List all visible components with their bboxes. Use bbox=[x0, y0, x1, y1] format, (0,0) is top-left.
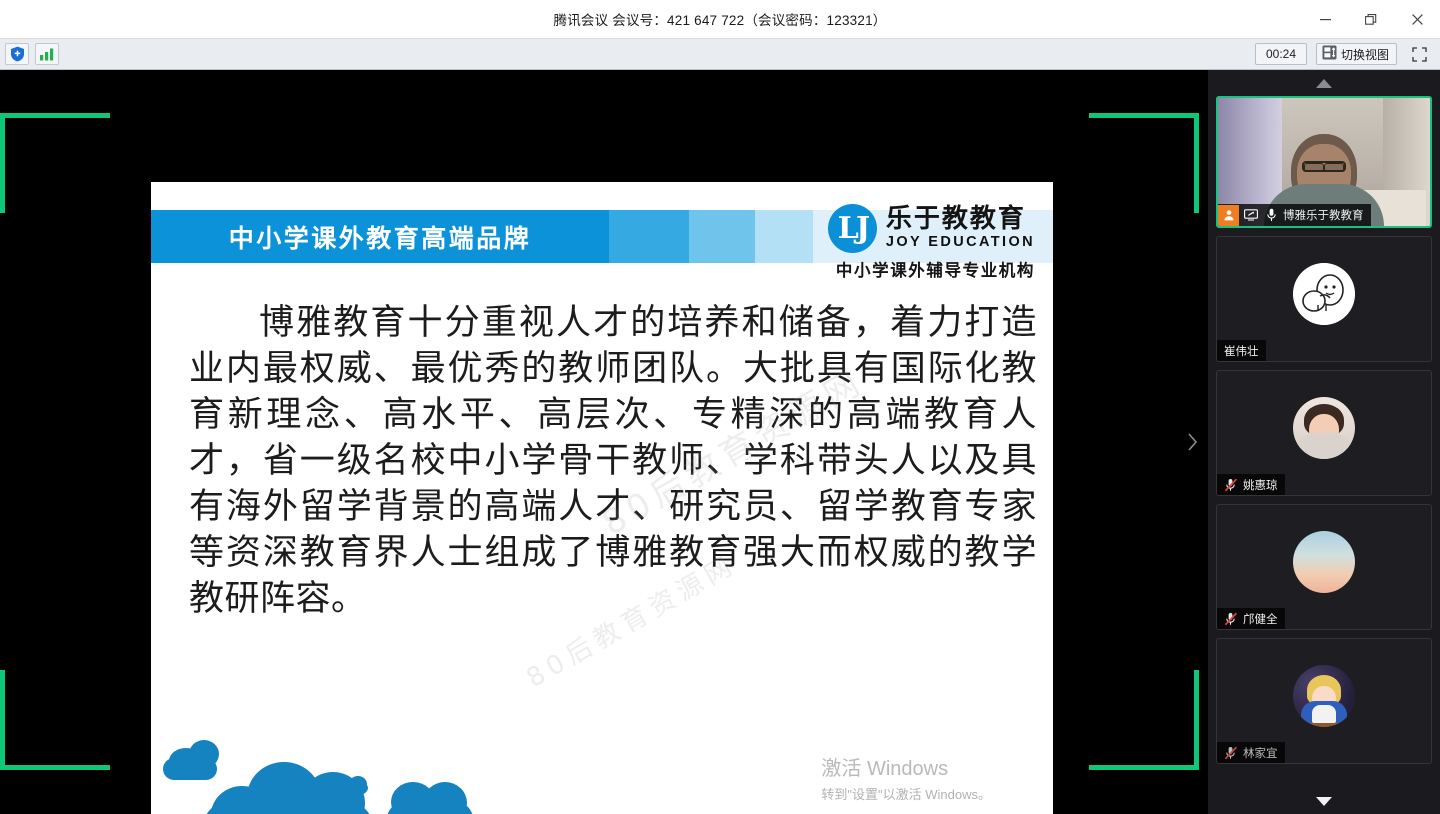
name-bar: 姚惠琼 bbox=[1217, 474, 1285, 495]
name-bar: 林家宜 bbox=[1217, 742, 1285, 763]
host-icon bbox=[1218, 205, 1239, 226]
logo-words: 乐于教教育 JOY EDUCATION bbox=[886, 206, 1035, 252]
participant-rail: 博雅乐于教教育 bbox=[1208, 70, 1440, 814]
name-bar: 博雅乐于教教育 bbox=[1218, 204, 1371, 226]
logo-mark-icon: LJ bbox=[828, 204, 877, 253]
slide-header-main: 中小学课外教育高端品牌 bbox=[151, 210, 609, 263]
avatar bbox=[1293, 263, 1355, 325]
tool-strip: 00:24 切换视图 bbox=[0, 39, 1440, 70]
logo-mark-text: LJ bbox=[838, 214, 867, 244]
participant-name: 林家宜 bbox=[1243, 745, 1278, 761]
share-corner-top-left bbox=[0, 113, 110, 213]
child-photo-avatar bbox=[1293, 397, 1355, 459]
switch-view-label: 切换视图 bbox=[1341, 46, 1389, 63]
fullscreen-icon[interactable] bbox=[1406, 43, 1432, 65]
participant-tile[interactable]: 姚惠琼 bbox=[1216, 370, 1432, 496]
microphone-muted-icon bbox=[1223, 610, 1239, 628]
chevron-down-icon[interactable] bbox=[1208, 788, 1440, 814]
logo-name-cn: 乐于教教育 bbox=[886, 206, 1026, 233]
windows-activation-watermark: 激活 Windows 转到"设置"以激活 Windows。 bbox=[821, 752, 991, 803]
sunset-photo-avatar bbox=[1293, 531, 1355, 593]
avatar bbox=[1293, 397, 1355, 459]
avatar bbox=[1293, 531, 1355, 593]
logo-row: LJ 乐于教教育 JOY EDUCATION bbox=[828, 204, 1035, 253]
title-bar: 腾讯会议 会议号：421 647 722（会议密码：123321） bbox=[0, 0, 1440, 39]
participant-name: 邝健全 bbox=[1243, 611, 1278, 627]
signal-bars-icon[interactable] bbox=[35, 43, 59, 65]
share-corner-top-right bbox=[1089, 113, 1199, 213]
switch-view-icon bbox=[1322, 45, 1337, 63]
cartoon-avatar bbox=[1293, 665, 1355, 727]
participant-tiles: 博雅乐于教教育 bbox=[1208, 96, 1440, 788]
shared-slide: 中小学课外教育高端品牌 LJ 乐于教教育 JOY EDUCATION bbox=[151, 182, 1053, 814]
screen-share-icon bbox=[1243, 206, 1259, 224]
name-bar: 崔伟壮 bbox=[1217, 340, 1266, 361]
participant-tile[interactable]: 邝健全 bbox=[1216, 504, 1432, 630]
window-controls bbox=[1302, 0, 1440, 39]
microphone-muted-icon bbox=[1223, 476, 1239, 494]
tool-strip-right: 00:24 切换视图 bbox=[1255, 43, 1440, 65]
slide-header-title: 中小学课外教育高端品牌 bbox=[229, 219, 532, 255]
activation-subtitle: 转到"设置"以激活 Windows。 bbox=[821, 784, 991, 803]
meeting-timer: 00:24 bbox=[1255, 43, 1307, 65]
header-block-3 bbox=[689, 210, 755, 263]
minimize-button[interactable] bbox=[1302, 0, 1348, 39]
chevron-right-icon[interactable] bbox=[1182, 422, 1202, 462]
switch-view-button[interactable]: 切换视图 bbox=[1316, 43, 1397, 65]
share-corner-bottom-right bbox=[1089, 670, 1199, 770]
participant-tile[interactable]: 博雅乐于教教育 bbox=[1216, 96, 1432, 228]
restore-button[interactable] bbox=[1348, 0, 1394, 39]
doodle-avatar bbox=[1293, 263, 1355, 325]
microphone-icon bbox=[1263, 206, 1279, 224]
slide-body-text: 博雅教育十分重视人才的培养和储备，着力打造业内最权威、最优秀的教师团队。大批具有… bbox=[189, 300, 1037, 622]
participant-name: 博雅乐于教教育 bbox=[1283, 207, 1364, 223]
participant-name: 姚惠琼 bbox=[1243, 477, 1278, 493]
name-bar: 邝健全 bbox=[1217, 608, 1285, 629]
activation-title: 激活 Windows bbox=[821, 752, 991, 781]
shield-plus-icon[interactable] bbox=[5, 43, 29, 65]
logo-subtitle: 中小学课外辅导专业机构 bbox=[836, 257, 1035, 281]
tool-strip-left bbox=[0, 43, 59, 65]
header-block-2 bbox=[609, 210, 689, 263]
participant-tile[interactable]: 林家宜 bbox=[1216, 638, 1432, 764]
share-corner-bottom-left bbox=[0, 670, 110, 770]
avatar bbox=[1293, 665, 1355, 727]
logo-name-en: JOY EDUCATION bbox=[886, 234, 1035, 251]
brand-logo: LJ 乐于教教育 JOY EDUCATION 中小学课外辅导专业机构 bbox=[791, 204, 1035, 280]
participant-name: 崔伟壮 bbox=[1224, 343, 1259, 359]
meeting-title: 腾讯会议 会议号：421 647 722（会议密码：123321） bbox=[554, 9, 887, 29]
screen-share-stage: 中小学课外教育高端品牌 LJ 乐于教教育 JOY EDUCATION bbox=[0, 70, 1208, 814]
close-button[interactable] bbox=[1394, 0, 1440, 39]
microphone-muted-icon bbox=[1223, 744, 1239, 762]
meeting-window: 腾讯会议 会议号：421 647 722（会议密码：123321） bbox=[0, 0, 1440, 814]
participant-tile[interactable]: 崔伟壮 bbox=[1216, 236, 1432, 362]
chevron-up-icon[interactable] bbox=[1208, 70, 1440, 96]
